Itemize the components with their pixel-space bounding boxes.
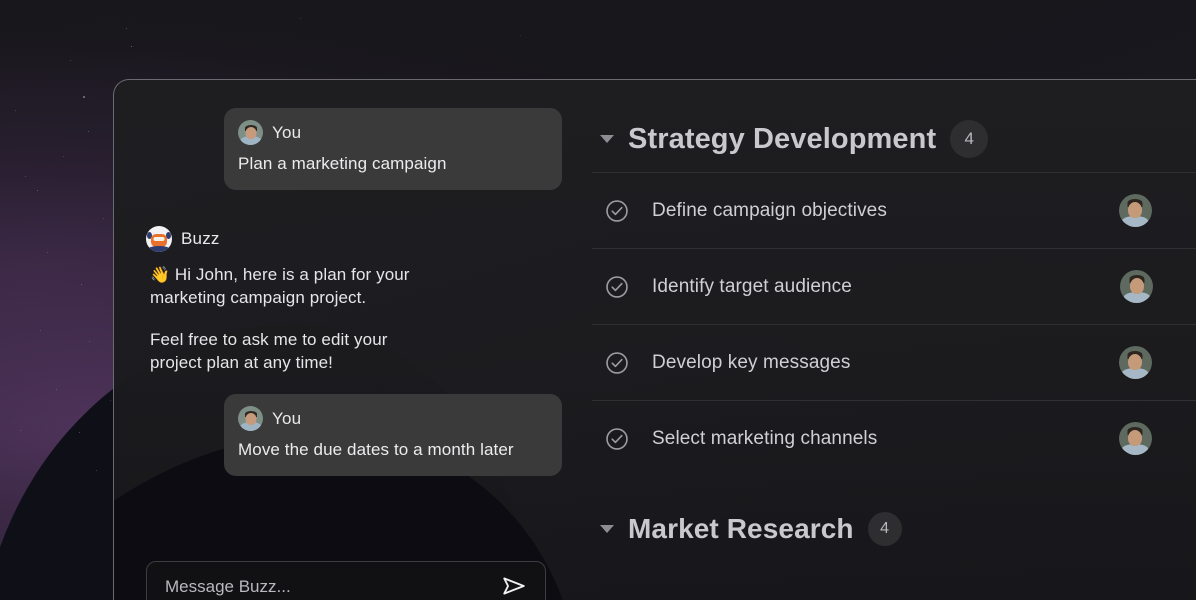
message-author: You [238, 406, 548, 431]
table-row[interactable]: Develop key messages Oct 13, 2024 [592, 324, 1196, 400]
table-row[interactable]: Define campaign objectives Oct 10, 2024 [592, 172, 1196, 248]
chat-message-user[interactable]: You Move the due dates to a month later [224, 394, 562, 476]
assistant-paragraph-1-text: Hi John, here is a plan for your marketi… [150, 265, 410, 307]
user-photo-avatar [238, 120, 263, 145]
assignee-avatar[interactable] [1120, 270, 1153, 303]
send-paper-plane-icon [501, 573, 527, 600]
task-group-header-market-research[interactable]: Market Research 4 [584, 496, 1196, 562]
assistant-paragraph-2: Feel free to ask me to edit your project… [150, 329, 422, 374]
wave-emoji-icon: 👋 [150, 267, 170, 284]
chat-message-list[interactable]: You Plan a marketing campaign Buzz 👋 Hi … [146, 106, 562, 561]
task-group-count-badge: 4 [868, 512, 902, 546]
message-input[interactable] [165, 577, 499, 597]
table-row[interactable]: Identify target audience Oct 11, 2024 [592, 248, 1196, 324]
task-title: Select marketing channels [652, 428, 1119, 450]
task-group-header-strategy-development[interactable]: Strategy Development 4 [584, 106, 1196, 172]
task-list-panel: Strategy Development 4 Define campaign o… [584, 80, 1196, 600]
task-group-count-badge: 4 [950, 120, 988, 158]
user-photo-avatar [238, 406, 263, 431]
chat-message-user[interactable]: You Plan a marketing campaign [224, 108, 562, 190]
task-title: Identify target audience [652, 276, 1120, 298]
check-circle-icon[interactable] [604, 350, 630, 376]
table-row[interactable]: Select marketing channels Oct 14, 2024 [592, 400, 1196, 476]
assignee-avatar[interactable] [1119, 346, 1152, 379]
task-group-title: Market Research [628, 513, 854, 545]
assignee-avatar[interactable] [1119, 194, 1152, 227]
message-author-name: You [272, 123, 301, 143]
chat-message-assistant[interactable]: Buzz 👋 Hi John, here is a plan for your … [146, 226, 562, 374]
message-author-name: Buzz [181, 229, 220, 249]
task-group-title: Strategy Development [628, 123, 936, 156]
message-composer[interactable] [146, 561, 546, 600]
buzz-astronaut-avatar [146, 226, 172, 252]
check-circle-icon[interactable] [604, 198, 630, 224]
check-circle-icon[interactable] [604, 426, 630, 452]
message-text: Plan a marketing campaign [238, 153, 548, 176]
chat-panel: You Plan a marketing campaign Buzz 👋 Hi … [114, 80, 584, 600]
send-button[interactable] [499, 572, 529, 600]
caret-down-icon[interactable] [600, 135, 614, 143]
app-panel: You Plan a marketing campaign Buzz 👋 Hi … [113, 79, 1196, 600]
assistant-paragraph-1: 👋 Hi John, here is a plan for your marke… [150, 264, 422, 309]
message-text: Move the due dates to a month later [238, 439, 548, 462]
caret-down-icon[interactable] [600, 525, 614, 533]
app-stage: You Plan a marketing campaign Buzz 👋 Hi … [0, 0, 1196, 600]
task-title: Develop key messages [652, 352, 1119, 374]
message-author: Buzz [146, 226, 562, 252]
message-author-name: You [272, 409, 301, 429]
task-title: Define campaign objectives [652, 200, 1119, 222]
assignee-avatar[interactable] [1119, 422, 1152, 455]
check-circle-icon[interactable] [604, 274, 630, 300]
message-author: You [238, 120, 548, 145]
